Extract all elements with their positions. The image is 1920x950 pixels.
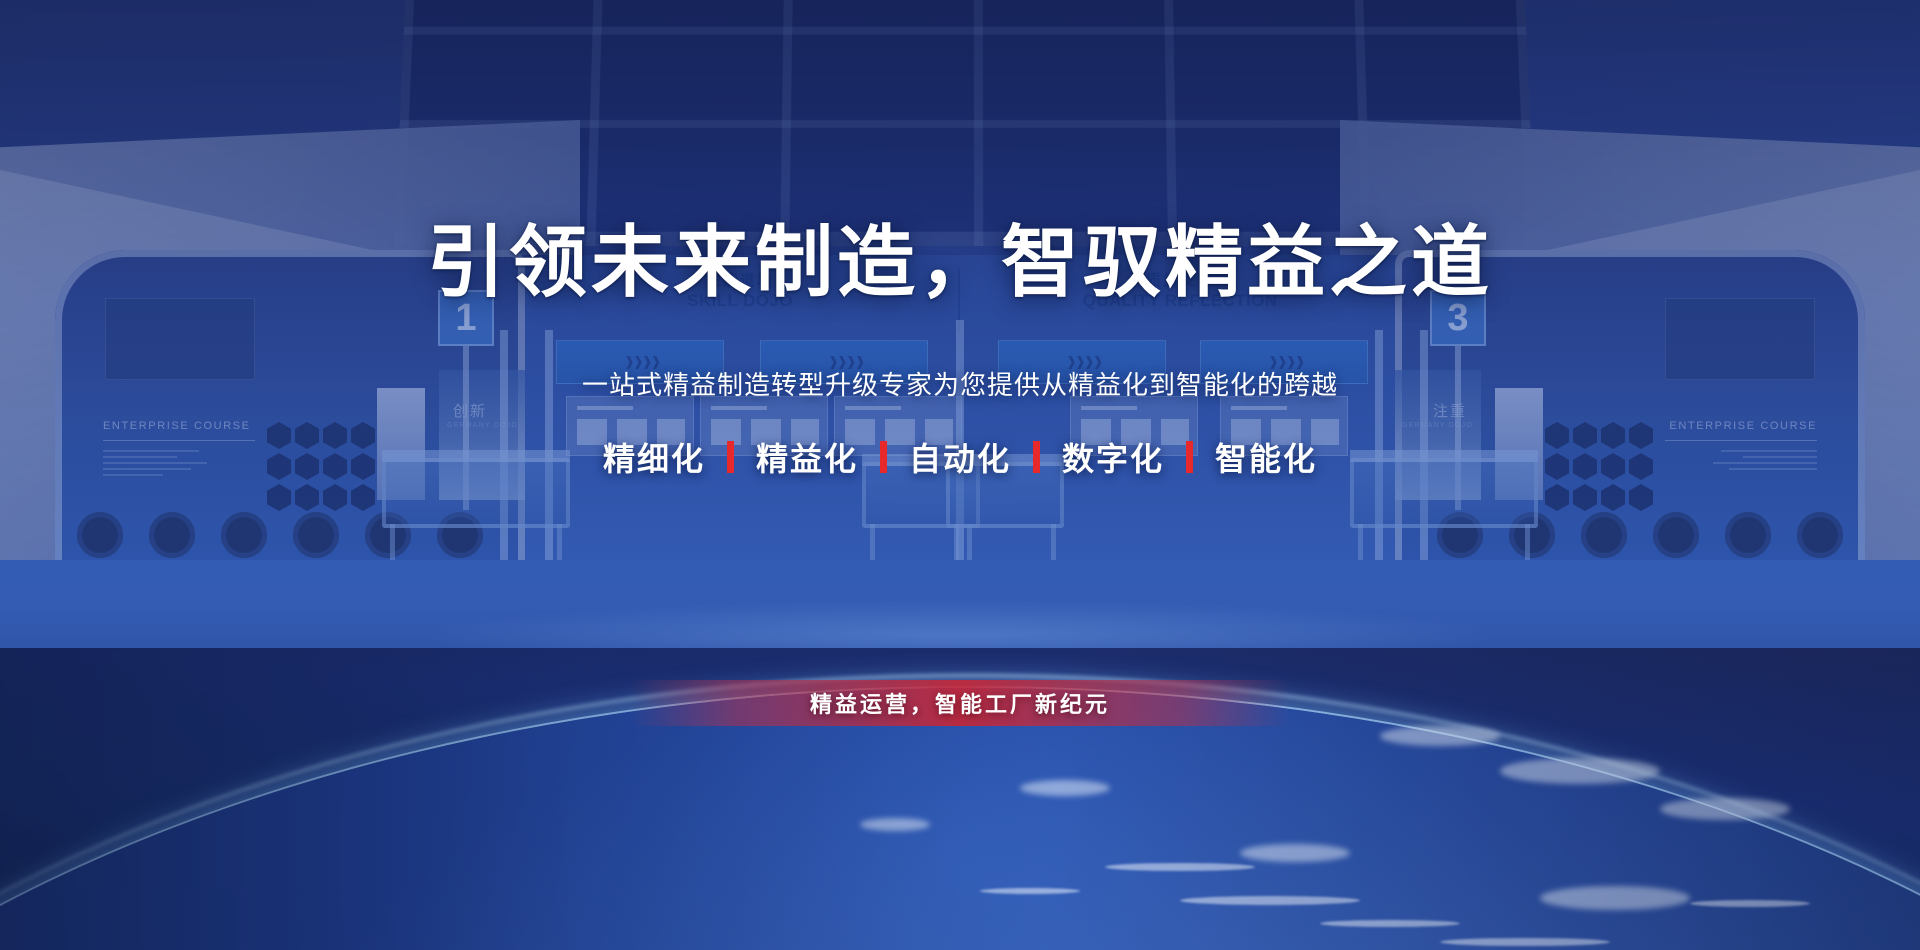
keyword-item: 自动化 xyxy=(909,434,1011,480)
keyword-separator xyxy=(727,441,734,473)
keyword-separator xyxy=(1033,441,1040,473)
hero-content: 引领未来制造，智驭精益之道 一站式精益制造转型升级专家为您提供从精益化到智能化的… xyxy=(0,0,1920,950)
cta-banner[interactable]: 精益运营，智能工厂新纪元 xyxy=(630,680,1290,726)
keyword-separator xyxy=(880,441,887,473)
keyword-separator xyxy=(1186,441,1193,473)
keyword-list: 精细化 精益化 自动化 数字化 智能化 xyxy=(0,434,1920,480)
keyword-item: 精细化 xyxy=(603,434,705,480)
page-title: 引领未来制造，智驭精益之道 xyxy=(0,200,1920,312)
keyword-item: 精益化 xyxy=(756,434,858,480)
keyword-item: 数字化 xyxy=(1062,434,1164,480)
hero-banner: 技能道场 SKILL DOJO 质量反省 QUALITY REFLECTION … xyxy=(0,0,1920,950)
hero-subtitle: 一站式精益制造转型升级专家为您提供从精益化到智能化的跨越 xyxy=(0,365,1920,402)
keyword-item: 智能化 xyxy=(1215,434,1317,480)
cta-label: 精益运营，智能工厂新纪元 xyxy=(810,687,1110,719)
